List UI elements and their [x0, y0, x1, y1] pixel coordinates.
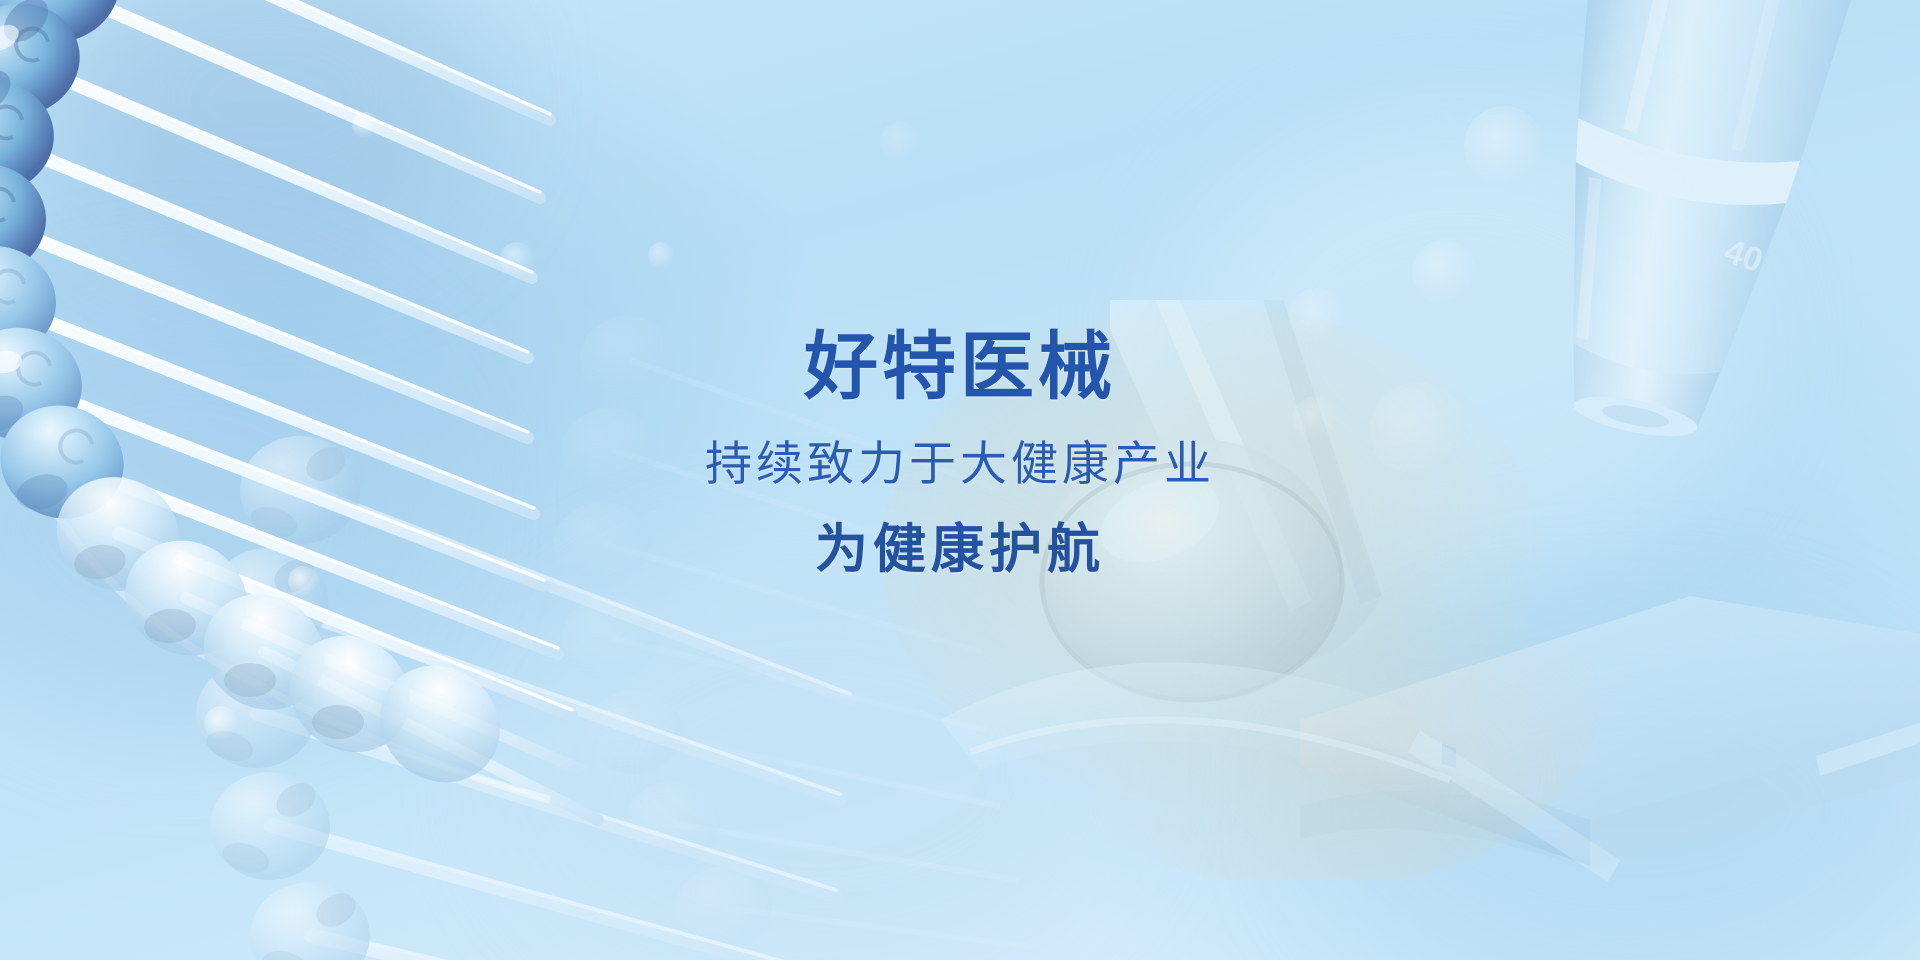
haze-blob [1320, 620, 1920, 960]
microscope-band [1567, 118, 1800, 220]
petri-dish [940, 662, 1467, 800]
microscope-stage-icon [1260, 570, 1920, 900]
stage-surface [1300, 596, 1920, 820]
bokeh-light-icon [500, 242, 534, 276]
haze-blob [60, 0, 480, 260]
microscope-barrel-upper [1554, 0, 1856, 184]
dna-sphere-swirl [0, 0, 142, 221]
pipette [1408, 730, 1620, 882]
hero-text-block: 好特医械 持续致力于大健康产业 为健康护航 [0, 330, 1920, 576]
dna-sphere-shading [0, 0, 109, 280]
hero-subtitle: 持续致力于大健康产业 [0, 440, 1920, 487]
hero-tagline: 为健康护航 [0, 523, 1920, 576]
bokeh-light-icon [880, 122, 920, 162]
page-title: 好特医械 [0, 330, 1920, 404]
stage-edge [1300, 720, 1590, 866]
bokeh-light-icon [1464, 106, 1544, 186]
stage-clip [1816, 710, 1920, 776]
bokeh-light-icon [1412, 240, 1476, 304]
haze-blob [520, 560, 1120, 960]
bokeh-light-icon [204, 706, 238, 740]
hero-banner: 40 [0, 0, 1920, 960]
bokeh-light-icon [352, 112, 378, 138]
bokeh-light-icon [648, 242, 674, 268]
microscope-magnification-label: 40 [1719, 232, 1768, 281]
